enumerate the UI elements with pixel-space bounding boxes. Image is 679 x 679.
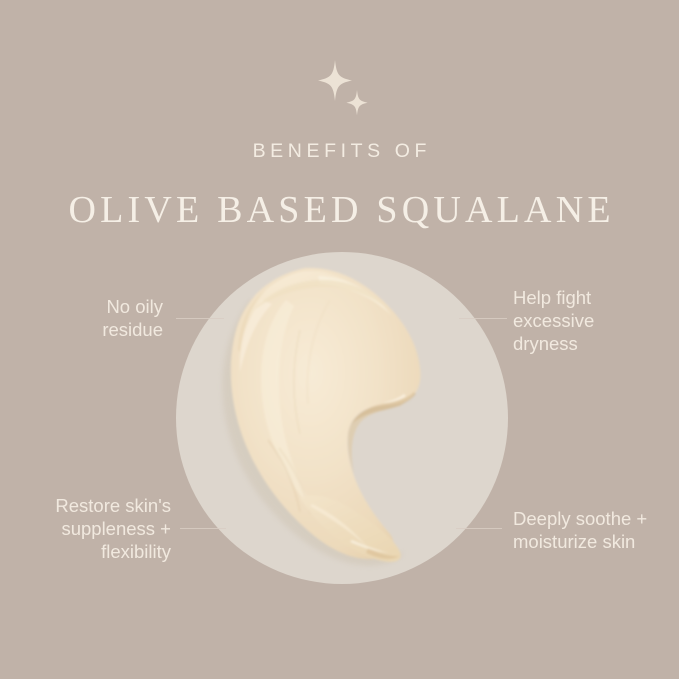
benefit-line: moisturize skin <box>513 530 647 553</box>
benefits-infographic: BENEFITS OF OLIVE BASED SQUALANE <box>0 0 679 679</box>
benefit-label-restore-skin-suppleness-flexibility: Restore skin's suppleness + flexibility <box>55 494 171 563</box>
benefit-line: suppleness + <box>55 517 171 540</box>
connector-top-right <box>459 318 507 319</box>
benefit-line: Restore skin's <box>55 494 171 517</box>
benefit-label-deeply-soothe-moisturize-skin: Deeply soothe + moisturize skin <box>513 507 647 553</box>
benefit-label-help-fight-excessive-dryness: Help fight excessive dryness <box>513 286 594 355</box>
benefit-line: dryness <box>513 332 594 355</box>
benefit-line: flexibility <box>55 540 171 563</box>
benefit-line: No oily <box>102 295 163 318</box>
benefit-line: residue <box>102 318 163 341</box>
benefit-label-no-oily-residue: No oily residue <box>102 295 163 341</box>
connector-top-left <box>176 318 224 319</box>
benefit-line: Help fight <box>513 286 594 309</box>
connector-bottom-left <box>180 528 226 529</box>
benefit-line: Deeply soothe + <box>513 507 647 530</box>
benefit-line: excessive <box>513 309 594 332</box>
connector-bottom-right <box>456 528 502 529</box>
